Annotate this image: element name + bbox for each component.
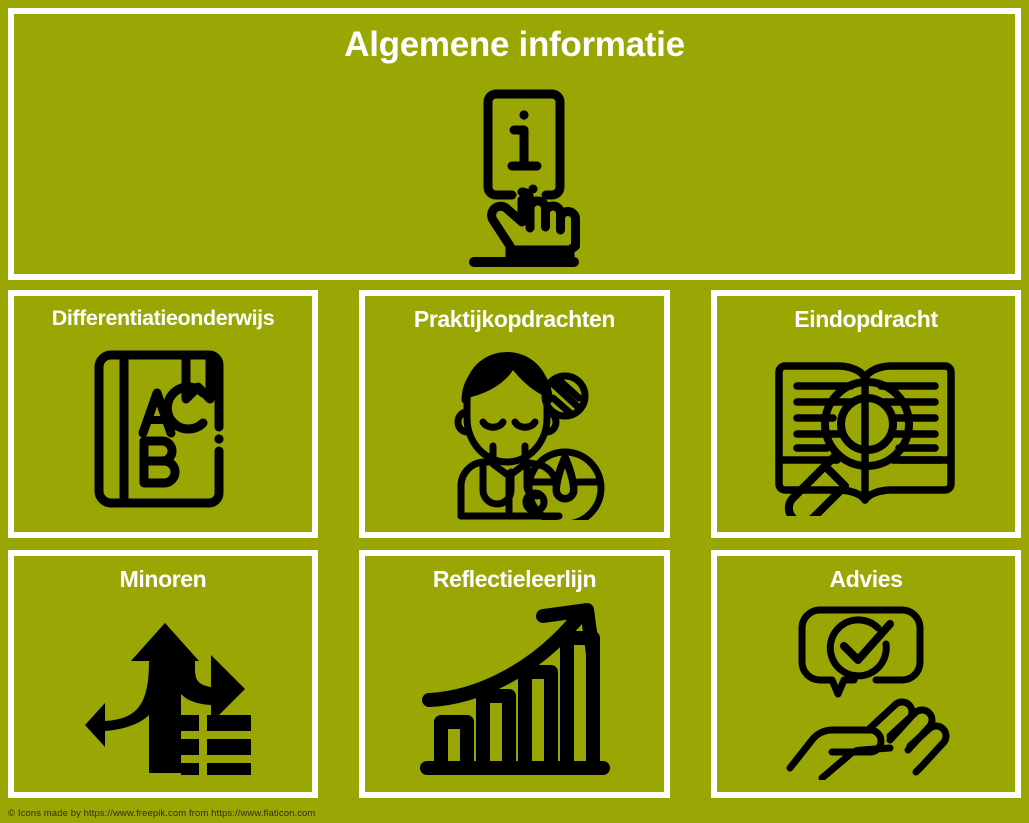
speech-bubble-check-hand-icon — [717, 591, 1015, 792]
tile-title: Advies — [829, 567, 902, 591]
nurse-stethoscope-icon — [365, 331, 664, 532]
abc-book-icon — [14, 330, 312, 532]
tile-praktijkopdrachten[interactable]: Praktijkopdrachten — [359, 290, 670, 538]
tile-advies[interactable]: Advies — [711, 550, 1021, 798]
growth-bar-chart-arrow-icon — [365, 591, 664, 792]
book-magnifier-icon — [717, 331, 1015, 532]
tile-title: Eindopdracht — [794, 307, 937, 331]
header-panel[interactable]: Algemene informatie — [8, 8, 1021, 280]
tile-reflectieleerlijn[interactable]: Reflectieleerlijn — [359, 550, 670, 798]
tile-grid: Differentiatieonderwijs — [8, 290, 1021, 798]
tile-title: Praktijkopdrachten — [414, 307, 615, 331]
tile-minoren[interactable]: Minoren — [8, 550, 318, 798]
info-tap-icon — [435, 70, 595, 270]
tile-title: Minoren — [120, 567, 207, 591]
tile-differentiatieonderwijs[interactable]: Differentiatieonderwijs — [8, 290, 318, 538]
tile-title: Reflectieleerlijn — [433, 567, 596, 591]
tile-title: Differentiatieonderwijs — [52, 307, 275, 330]
poster-root: Algemene informatie — [0, 0, 1029, 823]
page-title: Algemene informatie — [344, 27, 685, 62]
branching-arrows-list-icon — [14, 591, 312, 792]
attribution-text: © Icons made by https://www.freepik.com … — [8, 808, 315, 819]
tile-eindopdracht[interactable]: Eindopdracht — [711, 290, 1021, 538]
